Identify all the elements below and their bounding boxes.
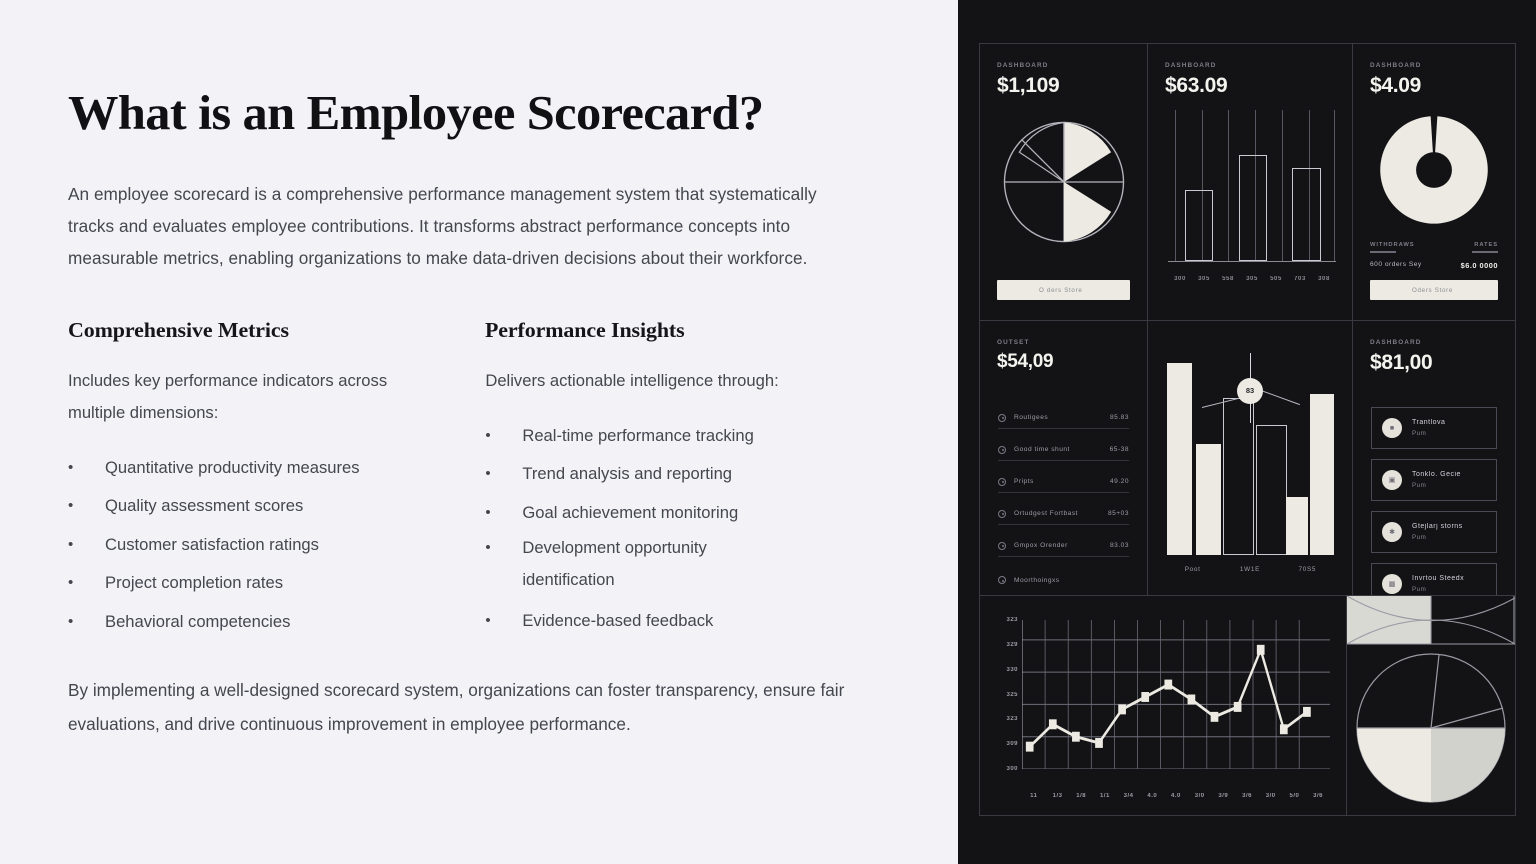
badge-value: 83: [1237, 378, 1263, 404]
legend-label: WITHDRAWS: [1370, 242, 1422, 248]
list-item-label: Gmpox Orender: [1014, 542, 1110, 549]
bullet-circle-icon: [998, 478, 1006, 486]
axis-tick-label: 703: [1288, 276, 1312, 282]
card-value: $4.09: [1370, 74, 1498, 98]
card-pie-metric: DASHBOARD $1,109: [980, 44, 1148, 320]
bullet-glyph: •: [485, 532, 522, 596]
list-item-label: Pripts: [1014, 478, 1110, 485]
metric-list: Routigees 85.83 Good time shunt 65-38 Pr…: [998, 409, 1129, 595]
list-item-label: Tonklo. Gecie: [1412, 471, 1461, 478]
list-item-label: Trend analysis and reporting: [522, 455, 896, 494]
list-item-label: Invrtou Steedx: [1412, 575, 1464, 582]
bullet-list-metrics: • Quantitative productivity measures • Q…: [68, 449, 485, 642]
list-item-label: Evidence-based feedback: [522, 602, 896, 641]
list-item: • Goal achievement monitoring: [485, 494, 896, 533]
axis-tick-label: 329: [1006, 642, 1018, 648]
list-item-label: Goal achievement monitoring: [522, 494, 896, 533]
card-geometry-graphic: [1347, 596, 1515, 815]
bullet-circle-icon: [998, 510, 1006, 518]
legend-label: RATES: [1474, 242, 1498, 248]
bar-filled: [1286, 497, 1308, 555]
column-lead: Includes key performance indicators acro…: [68, 365, 418, 429]
list-item-value: 85.83: [1110, 414, 1129, 421]
list-item-footer[interactable]: Moorthoingxs: [998, 571, 1129, 591]
bar: [1239, 155, 1268, 261]
bar-outlined: [1256, 425, 1287, 555]
list-item-label: Gtejlarj storns: [1412, 523, 1463, 530]
bar-filled: [1167, 363, 1192, 555]
legend-item-right: RATES $6.0 0000: [1461, 242, 1498, 270]
list-item-value: 83.03: [1110, 542, 1129, 549]
pie-chart-svg: [1002, 120, 1126, 244]
card-list-metric: OUTSET $54,09 Routigees 85.83 Good time …: [980, 321, 1148, 595]
list-item: • Real-time performance tracking: [485, 417, 896, 456]
axis-tick-label: 323: [1006, 716, 1018, 722]
card-label: DASHBOARD: [1370, 62, 1498, 69]
bullet-circle-icon: [998, 542, 1006, 550]
list-item-sublabel: Pum: [1412, 534, 1463, 541]
line-chart: 323 329 330 325 323 309 300: [994, 610, 1334, 805]
legend-item-left: WITHDRAWS 600 orders Sey: [1370, 242, 1422, 270]
axis-tick-label: 11: [1022, 793, 1046, 799]
item-card-list: ■ Trantlova Pum ▣ Tonklo. Gecie: [1371, 407, 1497, 595]
list-item: • Evidence-based feedback: [485, 602, 896, 641]
list-item-label: Customer satisfaction ratings: [105, 526, 485, 565]
bullet-circle-icon: [998, 576, 1006, 584]
donut-chart-svg: [1378, 114, 1490, 226]
axis-tick-label: 300: [1006, 766, 1018, 772]
two-column-section: Comprehensive Metrics Includes key perfo…: [68, 318, 896, 642]
intro-paragraph: An employee scorecard is a comprehensive…: [68, 178, 858, 274]
bullet-glyph: •: [485, 417, 522, 456]
bar-filled: [1196, 444, 1221, 555]
list-item: • Quantitative productivity measures: [68, 449, 485, 488]
card-label: DASHBOARD: [997, 62, 1130, 69]
card-value: $54,09: [997, 351, 1130, 373]
bar-filled: [1310, 394, 1334, 555]
axis-tick-label: 5/0: [1283, 793, 1307, 799]
axis-tick-label: 323: [1006, 617, 1018, 623]
axis-tick-label: 330: [1006, 667, 1018, 673]
list-item-label: Project completion rates: [105, 564, 485, 603]
legend-rule: [1370, 251, 1396, 253]
list-item: • Development opportunity identification: [485, 532, 896, 596]
bar-chart: 300 305 558 305 505 703 308: [1168, 110, 1336, 276]
grid-icon: ■: [1382, 418, 1402, 438]
line-chart-x-labels: 11 1/3 1/8 1/1 3/4 4.0 4.0 3/0 3/9 3/6 3…: [1022, 793, 1330, 799]
column-heading: Comprehensive Metrics: [68, 318, 494, 343]
list-item-label: Trantlova: [1412, 419, 1445, 426]
dashboard-row-2: OUTSET $54,09 Routigees 85.83 Good time …: [980, 321, 1515, 596]
card-items-metric: DASHBOARD $81,00 ■ Trantlova Pum: [1353, 321, 1515, 595]
bullet-glyph: •: [68, 603, 105, 642]
list-item: • Project completion rates: [68, 564, 485, 603]
axis-tick-label: 558: [1216, 276, 1240, 282]
list-item[interactable]: Pripts 49.20: [998, 473, 1129, 493]
dashboard-illustration: DASHBOARD $1,109: [958, 0, 1536, 864]
card-label: OUTSET: [997, 339, 1130, 346]
card-bar-metric: DASHBOARD $63.09: [1148, 44, 1353, 320]
list-item-label: Moorthoingxs: [1014, 577, 1129, 584]
axis-tick-label: 70S5: [1279, 566, 1336, 573]
list-item-label: Development opportunity identification: [522, 532, 790, 596]
card-cta-button[interactable]: O ders Store: [997, 280, 1130, 300]
bullet-glyph: •: [485, 602, 522, 641]
list-item[interactable]: ■ Trantlova Pum: [1371, 407, 1497, 449]
list-item-label: Quality assessment scores: [105, 487, 485, 526]
bar-chart-axis: [1168, 261, 1336, 262]
bar-chart-mixed: 83 Poot 1W1E 70S5: [1164, 349, 1336, 555]
star-icon: ✱: [1382, 522, 1402, 542]
card-value: $1,109: [997, 74, 1130, 98]
column-performance-insights: Performance Insights Delivers actionable…: [485, 318, 896, 642]
column-heading: Performance Insights: [485, 318, 904, 343]
list-item[interactable]: ✱ Gtejlarj storns Pum: [1371, 511, 1497, 553]
list-item: • Customer satisfaction ratings: [68, 526, 485, 565]
column-lead: Delivers actionable intelligence through…: [485, 365, 835, 397]
bullet-glyph: •: [485, 455, 522, 494]
list-item[interactable]: Good time shunt 65-38: [998, 441, 1129, 461]
list-item-label: Routigees: [1014, 414, 1110, 421]
bar: [1185, 190, 1214, 261]
list-item-label: Ortudgest Fortbast: [1014, 510, 1108, 517]
list-item[interactable]: Routigees 85.83: [998, 409, 1129, 429]
column-comprehensive-metrics: Comprehensive Metrics Includes key perfo…: [68, 318, 485, 642]
axis-tick-label: 3/6: [1235, 793, 1259, 799]
page-title: What is an Employee Scorecard?: [68, 84, 921, 142]
axis-tick-label: 1/1: [1093, 793, 1117, 799]
bullet-list-insights: • Real-time performance tracking • Trend…: [485, 417, 896, 641]
card-value: $81,00: [1370, 351, 1498, 375]
card-cta-button[interactable]: Oders Store: [1370, 280, 1498, 300]
bar: [1292, 168, 1321, 261]
bullet-glyph: •: [68, 564, 105, 603]
donut-legend: WITHDRAWS 600 orders Sey RATES $6.0 0000: [1370, 242, 1498, 270]
donut-chart: [1353, 114, 1515, 226]
list-item-label: Real-time performance tracking: [522, 417, 896, 456]
list-item: • Trend analysis and reporting: [485, 455, 896, 494]
bag-icon: ▩: [1382, 574, 1402, 594]
axis-tick-label: 3/0: [1188, 793, 1212, 799]
axis-tick-label: 3/9: [1212, 793, 1236, 799]
bullet-glyph: •: [485, 494, 522, 533]
list-item-label: Quantitative productivity measures: [105, 449, 485, 488]
geometry-illustration: [1347, 596, 1515, 815]
axis-tick-label: 308: [1312, 276, 1336, 282]
list-item-value: 49.20: [1110, 478, 1129, 485]
axis-tick-label: 309: [1006, 741, 1018, 747]
dashboard-row-1: DASHBOARD $1,109: [980, 44, 1515, 321]
legend-value: $6.0 0000: [1461, 261, 1498, 270]
bar-chart-x-labels: Poot 1W1E 70S5: [1164, 566, 1336, 573]
card-label: DASHBOARD: [1165, 62, 1335, 69]
list-item-sublabel: Pum: [1412, 586, 1464, 593]
content-pane: What is an Employee Scorecard? An employ…: [0, 0, 958, 864]
list-item[interactable]: Ortudgest Fortbast 85+03: [998, 505, 1129, 525]
card-donut-metric: DASHBOARD $4.09 WITHDRAWS: [1353, 44, 1515, 320]
axis-tick-label: 1/8: [1069, 793, 1093, 799]
bullet-circle-icon: [998, 446, 1006, 454]
bullet-glyph: •: [68, 487, 105, 526]
dashboard-grid: DASHBOARD $1,109: [979, 43, 1516, 816]
line-chart-svg: [1022, 620, 1330, 769]
line-chart-y-labels: 323 329 330 325 323 309 300: [994, 620, 1020, 769]
list-item-value: 65-38: [1110, 446, 1129, 453]
list-item-sublabel: Pum: [1412, 482, 1461, 489]
list-item-sublabel: Pum: [1412, 430, 1445, 437]
geometry-svg: [1347, 596, 1515, 815]
pie-chart: [980, 120, 1147, 244]
axis-tick-label: 505: [1264, 276, 1288, 282]
bullet-circle-icon: [998, 414, 1006, 422]
axis-tick-label: 4.0: [1164, 793, 1188, 799]
legend-value: 600 orders Sey: [1370, 261, 1422, 268]
axis-tick-label: 305: [1240, 276, 1264, 282]
bullet-glyph: •: [68, 449, 105, 488]
axis-tick-label: Poot: [1164, 566, 1221, 573]
slide-root: What is an Employee Scorecard? An employ…: [0, 0, 1536, 864]
card-label: DASHBOARD: [1370, 339, 1498, 346]
bar-chart-x-labels: 300 305 558 305 505 703 308: [1168, 276, 1336, 282]
axis-tick-label: 3/6: [1306, 793, 1330, 799]
legend-rule: [1472, 251, 1498, 253]
list-item: • Quality assessment scores: [68, 487, 485, 526]
list-item: • Behavioral competencies: [68, 603, 485, 642]
card-value: $63.09: [1165, 74, 1335, 98]
axis-tick-label: 3/4: [1117, 793, 1141, 799]
axis-tick-label: 4.0: [1140, 793, 1164, 799]
outro-paragraph: By implementing a well-designed scorecar…: [68, 673, 896, 741]
list-item-label: Good time shunt: [1014, 446, 1110, 453]
axis-tick-label: 300: [1168, 276, 1192, 282]
axis-tick-label: 305: [1192, 276, 1216, 282]
axis-tick-label: 325: [1006, 692, 1018, 698]
list-item[interactable]: ▣ Tonklo. Gecie Pum: [1371, 459, 1497, 501]
list-item[interactable]: ▩ Invrtou Steedx Pum: [1371, 563, 1497, 595]
box-icon: ▣: [1382, 470, 1402, 490]
list-item-label: Behavioral competencies: [105, 603, 485, 642]
list-item[interactable]: Gmpox Orender 83.03: [998, 537, 1129, 557]
card-cta-label: Oders Store: [1412, 287, 1453, 294]
dashboard-row-3: 323 329 330 325 323 309 300: [980, 596, 1515, 815]
card-line-chart: 323 329 330 325 323 309 300: [980, 596, 1347, 815]
bullet-glyph: •: [68, 526, 105, 565]
axis-tick-label: 1W1E: [1221, 566, 1278, 573]
card-center-bar-chart: 83 Poot 1W1E 70S5: [1148, 321, 1353, 595]
card-cta-label: O ders Store: [1039, 287, 1082, 294]
axis-tick-label: 1/3: [1046, 793, 1070, 799]
list-item-value: 85+03: [1108, 510, 1129, 517]
axis-tick-label: 3/0: [1259, 793, 1283, 799]
